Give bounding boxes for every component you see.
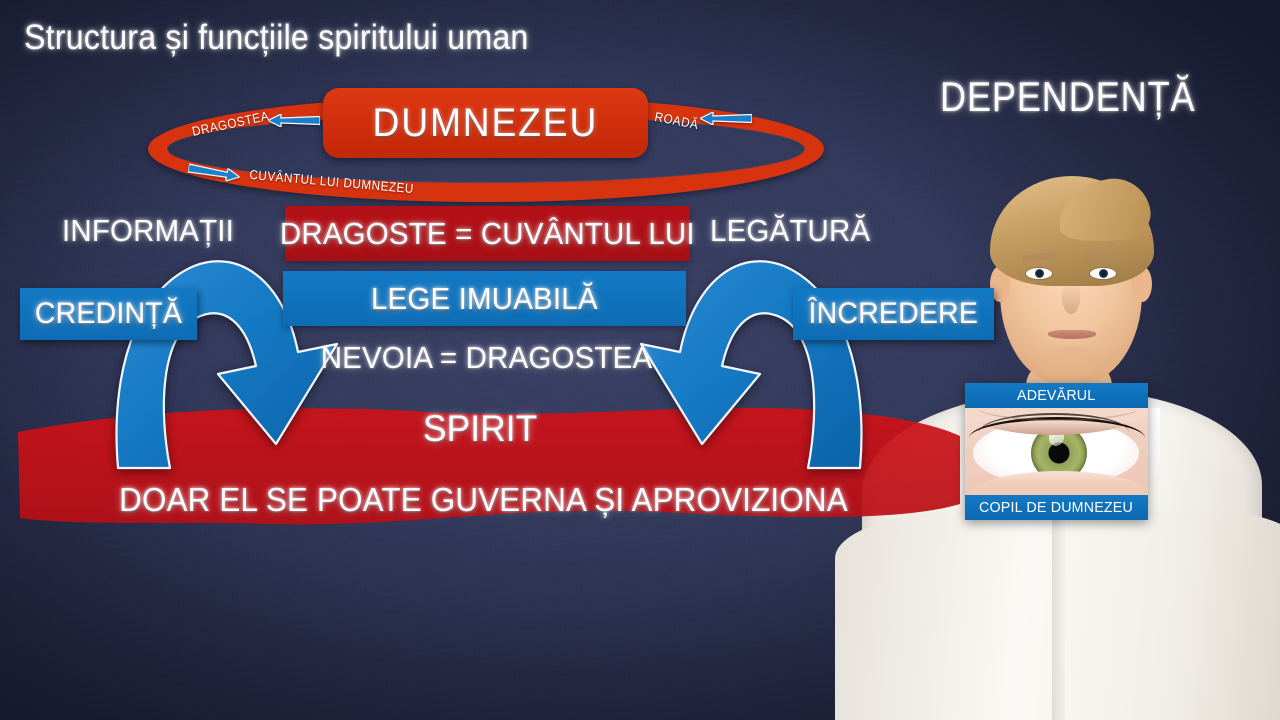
dumnezeu-label: DUMNEZEU: [373, 101, 599, 146]
slide-canvas: Structura și funcțiile spiritului uman D…: [0, 0, 1280, 720]
lower-eyelid: [965, 471, 1148, 498]
box-credinta: CREDINȚĂ: [20, 288, 197, 340]
box-incredere-label: ÎNCREDERE: [808, 297, 978, 331]
eye-card: ADEVĂRUL COPIL DE DUMNEZEU: [965, 383, 1148, 520]
banner-heading-text: SPIRIT: [423, 408, 537, 450]
banner-heading: SPIRIT: [330, 408, 630, 450]
label-legatura: LEGĂTURĂ: [710, 213, 870, 249]
bar-dragoste-cuvantul: DRAGOSTE = CUVÂNTUL LUI: [285, 206, 690, 261]
bar-dragoste-cuvantul-label: DRAGOSTE = CUVÂNTUL LUI: [280, 216, 695, 252]
dumnezeu-box: DUMNEZEU: [323, 88, 648, 158]
banner-subtext-text: DOAR EL SE POATE GUVERNA ȘI APROVIZIONA: [119, 481, 848, 519]
eye-card-top-bar: ADEVĂRUL: [965, 383, 1148, 408]
eye-card-top-label: ADEVĂRUL: [1017, 387, 1095, 404]
page-title: Structura și funcțiile spiritului uman: [24, 18, 529, 58]
label-informatii: INFORMAȚII: [62, 213, 234, 249]
nose: [1062, 282, 1080, 314]
bar-lege-imuabila: LEGE IMUABILĂ: [283, 271, 686, 326]
box-credinta-label: CREDINȚĂ: [35, 297, 182, 331]
box-incredere: ÎNCREDERE: [793, 288, 994, 340]
mouth: [1048, 330, 1096, 339]
label-nevoia-dragostea: NEVOIA = DRAGOSTEA: [285, 340, 688, 376]
iris-right: [1099, 269, 1108, 278]
banner-subtext: DOAR EL SE POATE GUVERNA ȘI APROVIZIONA: [100, 481, 860, 519]
iris-left: [1035, 269, 1044, 278]
label-nevoia-dragostea-text: NEVOIA = DRAGOSTEA: [321, 340, 653, 376]
shirt-placket: [1052, 490, 1065, 720]
eye-card-bottom-bar: COPIL DE DUMNEZEU: [965, 495, 1148, 520]
arrow-left-icon-roada: [700, 112, 752, 125]
eye-card-bottom-label: COPIL DE DUMNEZEU: [980, 499, 1134, 516]
chin-shading: [1036, 346, 1108, 368]
arrow-left-icon-dragostea: [268, 114, 320, 127]
dependency-label: DEPENDENȚĂ: [940, 73, 1195, 121]
eye-photo: [965, 405, 1148, 498]
bar-lege-imuabila-label: LEGE IMUABILĂ: [371, 281, 598, 317]
